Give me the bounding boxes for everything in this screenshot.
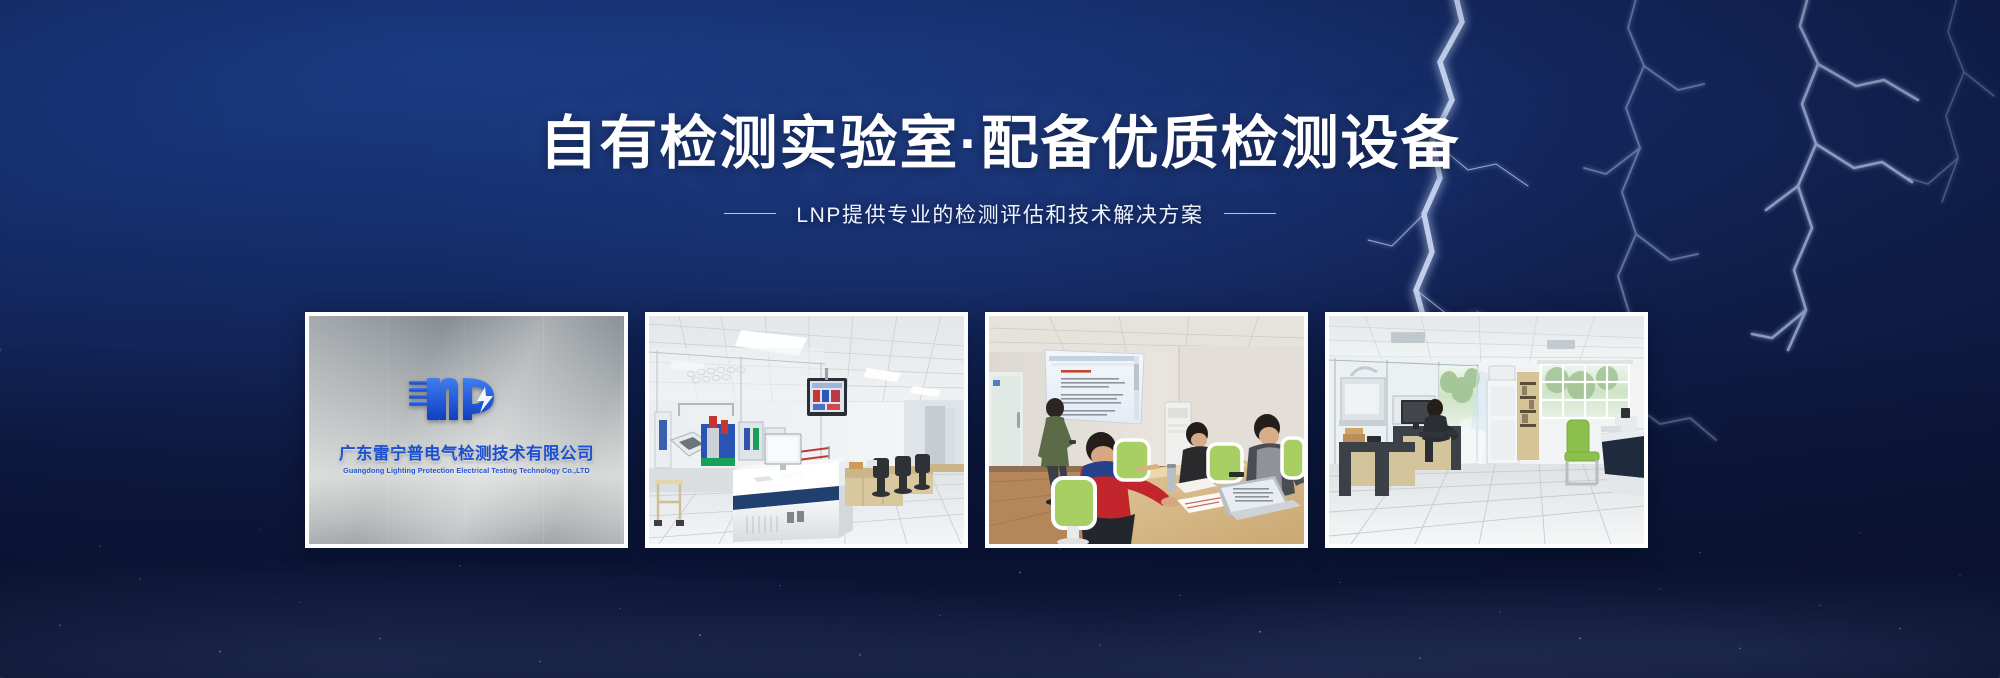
page-title: 自有检测实验室·配备优质检测设备: [0, 112, 2000, 177]
signage-content: 广东雷宁普电气检测技术有限公司 Guangdong Lighting Prote…: [309, 368, 624, 475]
photo-gallery: 广东雷宁普电气检测技术有限公司 Guangdong Lighting Prote…: [305, 312, 1648, 548]
photo-company-signage: 广东雷宁普电气检测技术有限公司 Guangdong Lighting Prote…: [309, 316, 624, 544]
signage-company-name-cn: 广东雷宁普电气检测技术有限公司: [309, 440, 624, 464]
office-scene: [1329, 316, 1644, 544]
banner-text-block: 自有检测实验室·配备优质检测设备 LNP提供专业的检测评估和技术解决方案: [0, 112, 2000, 229]
right-rule-divider: [1224, 213, 1276, 214]
gallery-card-company-signage[interactable]: 广东雷宁普电气检测技术有限公司 Guangdong Lighting Prote…: [305, 312, 628, 548]
photo-office-area: [1329, 316, 1644, 544]
meeting-room-scene: [989, 316, 1304, 544]
lnp-logo-icon: [401, 368, 533, 430]
hero-banner: 自有检测实验室·配备优质检测设备 LNP提供专业的检测评估和技术解决方案: [0, 0, 2000, 678]
photo-meeting-room: [989, 316, 1304, 544]
gallery-card-testing-laboratory[interactable]: [645, 312, 968, 548]
signage-company-name-en: Guangdong Lighting Protection Electrical…: [309, 466, 624, 475]
gallery-card-office-area[interactable]: [1325, 312, 1648, 548]
photo-testing-laboratory: [649, 316, 964, 544]
page-subtitle: LNP提供专业的检测评估和技术解决方案: [796, 199, 1203, 229]
gallery-card-meeting-room[interactable]: [985, 312, 1308, 548]
left-rule-divider: [724, 213, 776, 214]
subtitle-row: LNP提供专业的检测评估和技术解决方案: [0, 199, 2000, 229]
laboratory-scene: [649, 316, 964, 544]
